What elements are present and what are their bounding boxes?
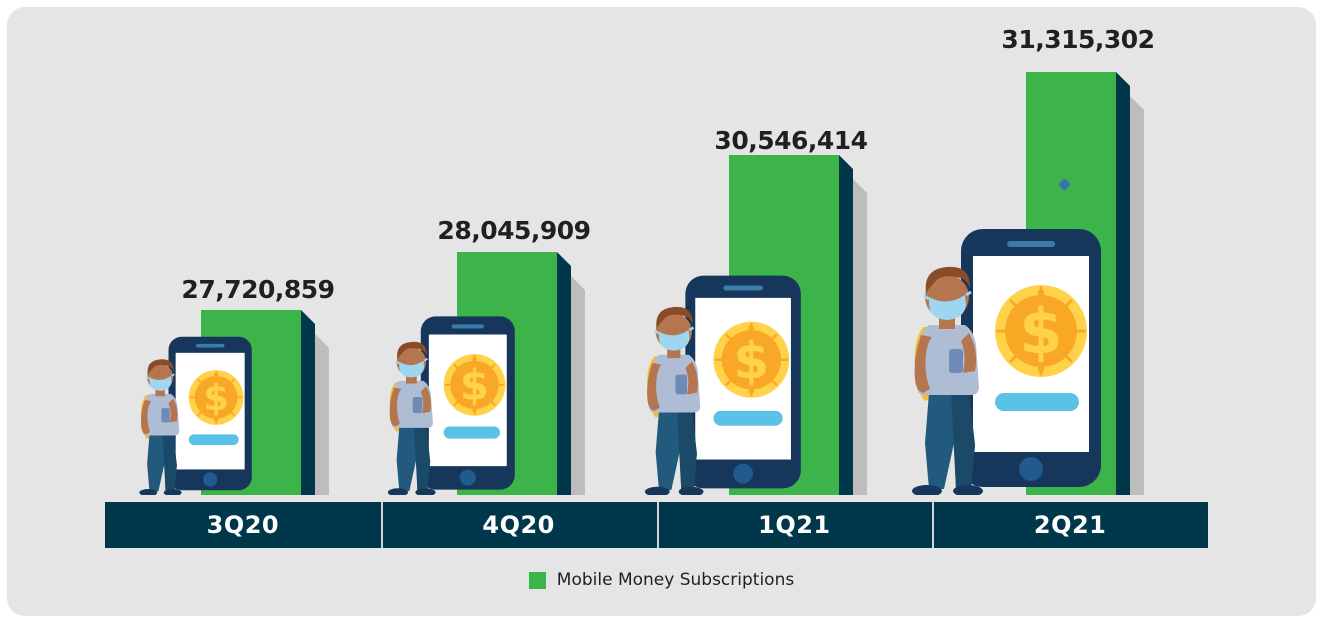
bar-drop-shadow <box>1130 82 1144 495</box>
bar-3d-side <box>557 252 571 495</box>
value-label-4q20: 28,045,909 <box>437 216 590 245</box>
bar-drop-shadow <box>853 165 867 495</box>
value-label-1q21: 30,546,414 <box>714 126 867 155</box>
illustration-person-phone-1q21 <box>634 269 806 495</box>
legend-swatch-green <box>529 572 546 589</box>
axis-label-1q21: 1Q21 <box>657 502 933 548</box>
axis-label-4q20: 4Q20 <box>381 502 657 548</box>
chart-legend: Mobile Money Subscriptions <box>7 570 1316 590</box>
value-label-2q21: 31,315,302 <box>1001 25 1154 54</box>
chart-canvas: 27,720,85928,045,90930,546,41431,315,302… <box>7 7 1316 616</box>
bar-drop-shadow <box>571 262 585 495</box>
legend-label: Mobile Money Subscriptions <box>557 570 794 590</box>
illustration-person-phone-2q21 <box>899 221 1107 495</box>
bar-3d-side <box>1116 72 1130 495</box>
bar-3d-side <box>839 155 853 495</box>
bar-drop-shadow <box>315 320 329 495</box>
category-axis: 3Q20 4Q20 1Q21 2Q21 <box>105 502 1208 548</box>
axis-label-3q20: 3Q20 <box>105 502 381 548</box>
axis-label-2q21: 2Q21 <box>932 502 1208 548</box>
value-label-3q20: 27,720,859 <box>181 275 334 304</box>
illustration-person-phone-4q20 <box>379 311 519 495</box>
illustration-person-phone-3q20 <box>131 332 256 495</box>
bar-3d-side <box>301 310 315 495</box>
